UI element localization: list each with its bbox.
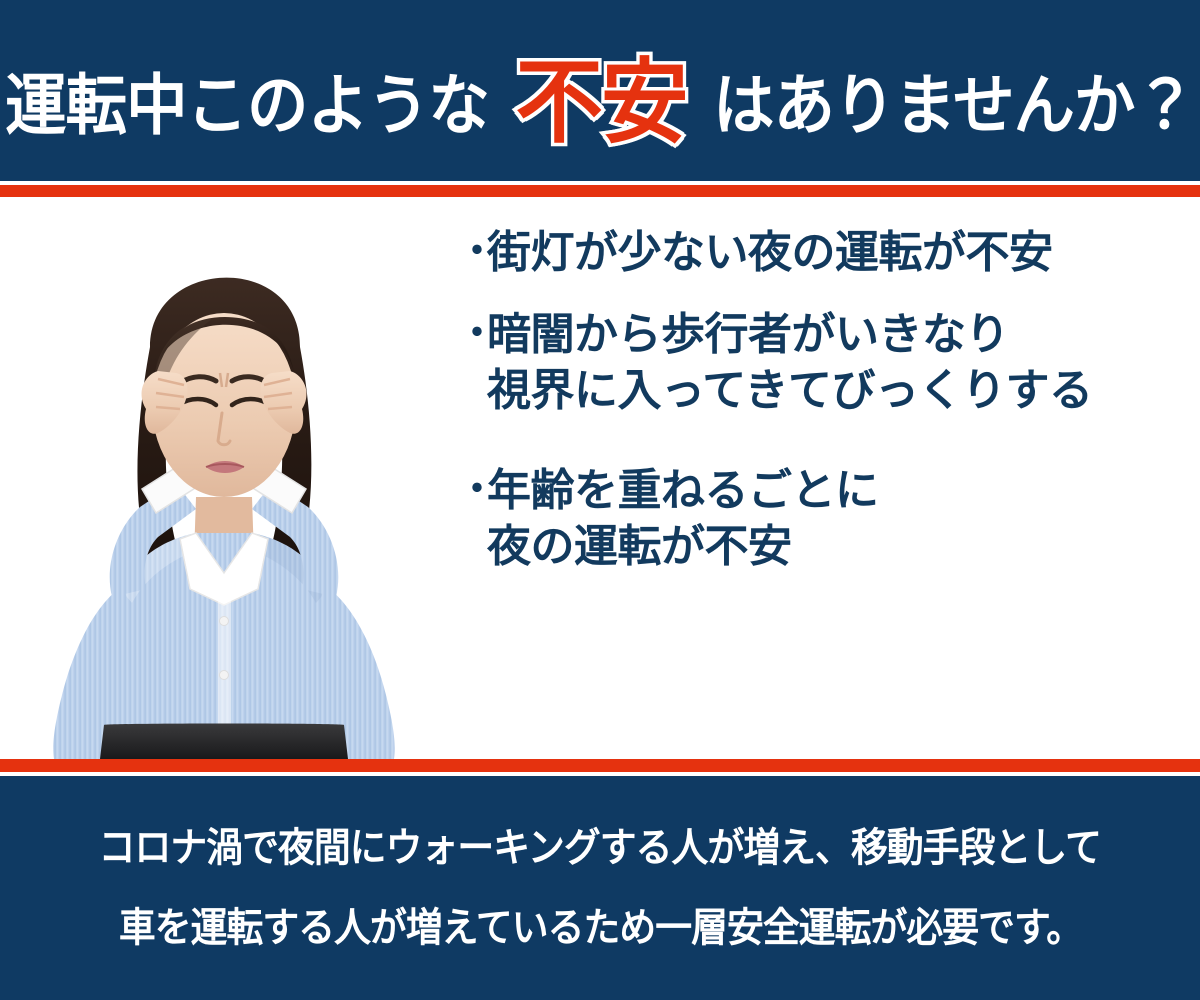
concerns-list: ・ 街灯が少ない夜の運転が不安 ・ 暗闇から歩行者がいきなり 視界に入ってきてび…: [455, 225, 1175, 575]
header-title-line: 運転中このような 不安 はありませんか？: [0, 51, 1200, 143]
list-item-line: 年齢を重ねるごとに: [487, 466, 879, 515]
bullet-dot-icon: ・: [455, 463, 487, 517]
header-text-after: はありませんか？: [713, 72, 1195, 138]
footer-banner: コロナ渦で夜間にウォーキングする人が増え、移動手段として 車を運転する人が増えて…: [0, 776, 1200, 1000]
list-item-line: 夜の運転が不安: [487, 522, 792, 571]
header-accent-word: 不安: [515, 57, 686, 149]
list-item-text: 暗闇から歩行者がいきなり 視界に入ってきてびっくりする: [487, 307, 1175, 419]
bullet-dot-icon: ・: [455, 225, 487, 279]
footer-line: 車を運転する人が増えているため一層安全運転が必要です。: [118, 908, 1081, 948]
poster-root: 運転中このような 不安 はありませんか？: [0, 0, 1200, 1000]
footer-line: コロナ渦で夜間にウォーキングする人が増え、移動手段として: [99, 828, 1101, 868]
list-item: ・ 暗闇から歩行者がいきなり 視界に入ってきてびっくりする: [455, 307, 1175, 419]
list-item-text: 街灯が少ない夜の運転が不安: [487, 225, 1175, 281]
list-item-line: 街灯が少ない夜の運転が不安: [487, 228, 1053, 277]
list-item: ・ 街灯が少ない夜の運転が不安: [455, 225, 1175, 281]
list-item-line: 視界に入ってきてびっくりする: [487, 366, 1092, 415]
header-text-before: 運転中このような: [5, 72, 489, 138]
list-item-text: 年齢を重ねるごとに 夜の運転が不安: [487, 463, 1175, 575]
divider-rule-bottom: [0, 759, 1200, 772]
divider-rule-top: [0, 185, 1200, 197]
woman-photo: [0, 197, 440, 759]
bullet-dot-icon: ・: [455, 307, 487, 361]
list-item: ・ 年齢を重ねるごとに 夜の運転が不安: [455, 463, 1175, 575]
content-section: ・ 街灯が少ない夜の運転が不安 ・ 暗闇から歩行者がいきなり 視界に入ってきてび…: [0, 197, 1200, 759]
header-banner: 運転中このような 不安 はありませんか？: [0, 0, 1200, 181]
list-item-line: 暗闇から歩行者がいきなり: [487, 310, 1009, 359]
